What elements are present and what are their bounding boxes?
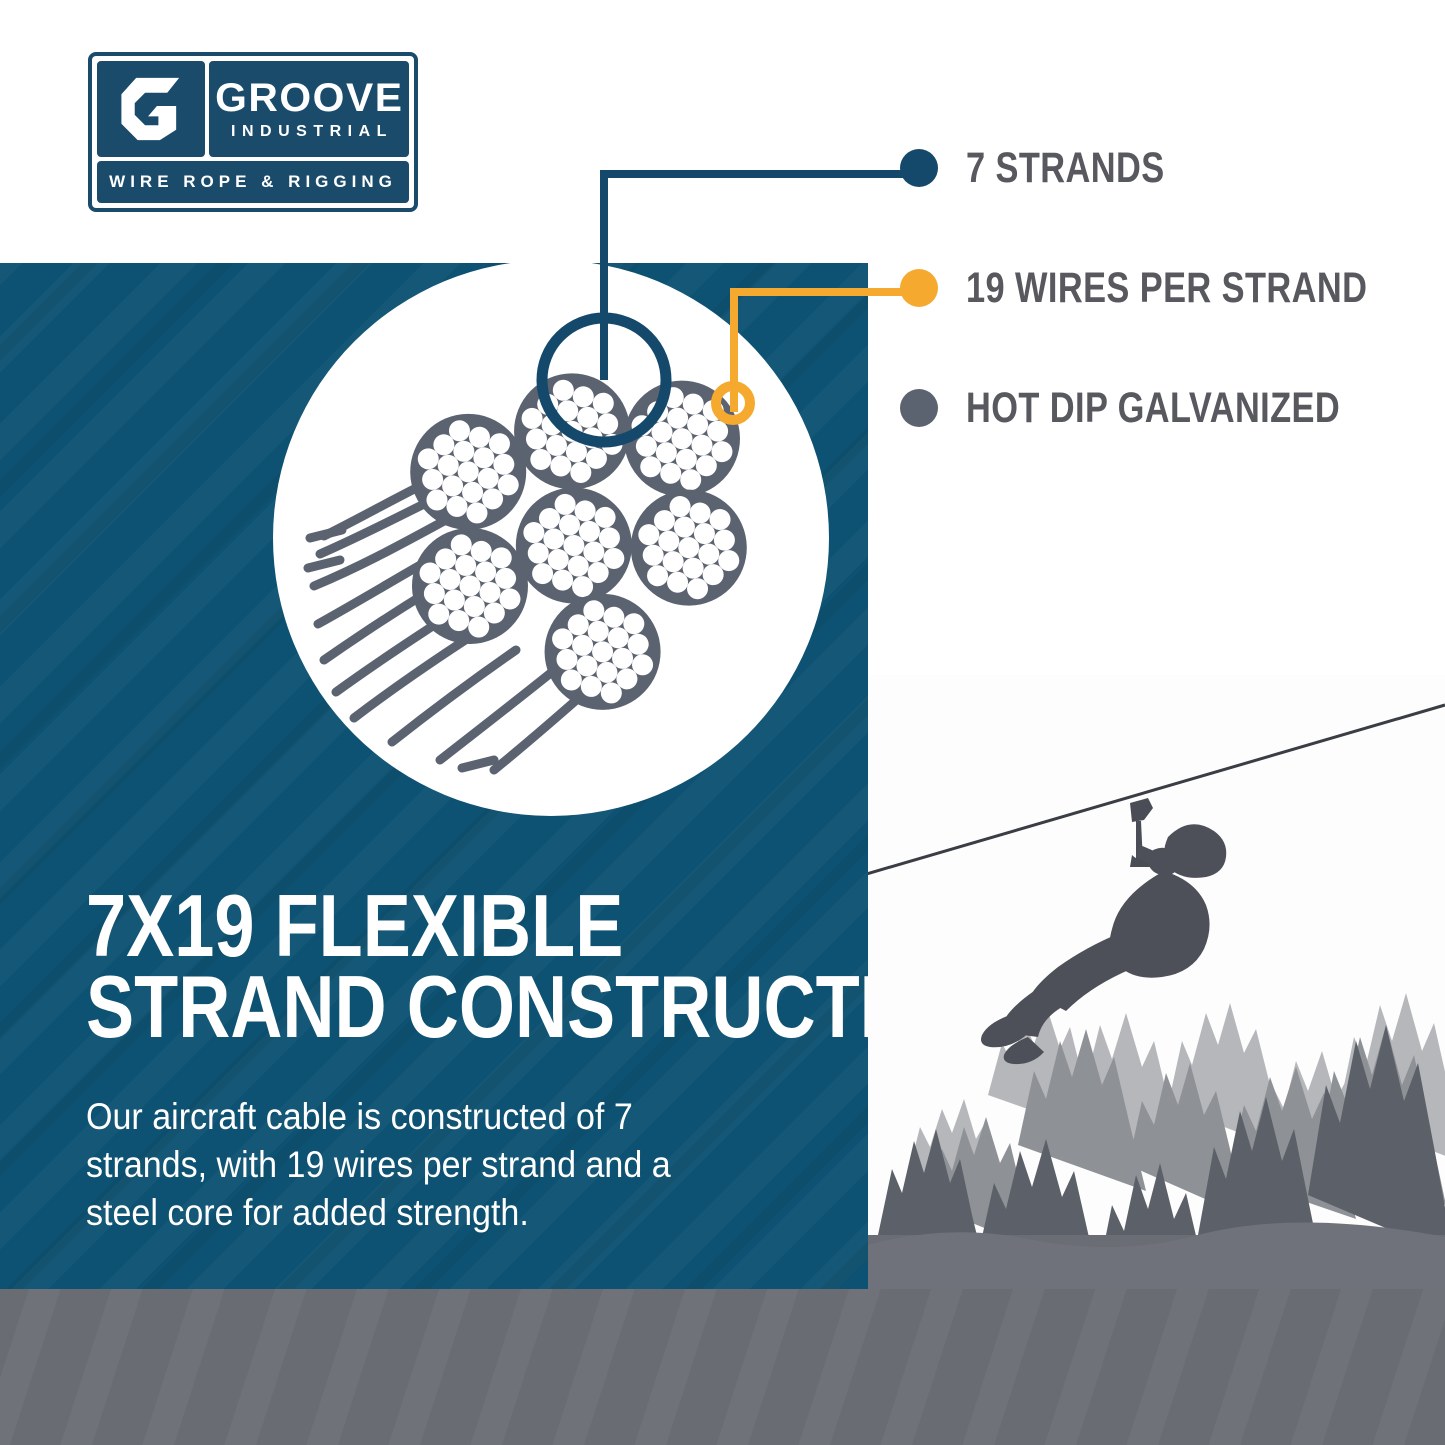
callout-label: 7 STRANDS (966, 147, 1165, 190)
callout-item-strands[interactable]: 7 STRANDS (900, 140, 1420, 196)
bullet-dot-icon (900, 389, 938, 427)
bullet-dot-icon (900, 149, 938, 187)
callout-label: 19 WIRES PER STRAND (966, 267, 1367, 310)
callout-label: HOT DIP GALVANIZED (966, 387, 1340, 430)
callout-item-galvanized[interactable]: HOT DIP GALVANIZED (900, 380, 1420, 436)
amber-connector-line (734, 292, 924, 412)
callout-item-wires[interactable]: 19 WIRES PER STRAND (900, 260, 1420, 316)
description-text: Our aircraft cable is constructed of 7 s… (86, 1093, 730, 1237)
logo-tagline: WIRE ROPE & RIGGING (109, 172, 397, 192)
callout-list: 7 STRANDS 19 WIRES PER STRAND HOT DIP GA… (900, 140, 1420, 500)
logo-name: GROOVE (215, 78, 403, 118)
groove-g-logomark (97, 61, 205, 157)
logo-subtitle: INDUSTRIAL (225, 124, 393, 140)
footer-texture (0, 1289, 1445, 1445)
brand-logo: GROOVE INDUSTRIAL WIRE ROPE & RIGGING (88, 52, 418, 212)
footer-bar (0, 1289, 1445, 1445)
navy-connector-line (604, 174, 924, 380)
headline-line-2: STRAND CONSTRUCTION (86, 967, 709, 1048)
logo-tagline-band: WIRE ROPE & RIGGING (97, 161, 409, 203)
bullet-dot-icon (900, 269, 938, 307)
infographic-canvas: GROOVE INDUSTRIAL WIRE ROPE & RIGGING (0, 0, 1445, 1445)
zipline-photo (868, 675, 1445, 1290)
page-title: 7X19 FLEXIBLE STRAND CONSTRUCTION (86, 886, 709, 1048)
